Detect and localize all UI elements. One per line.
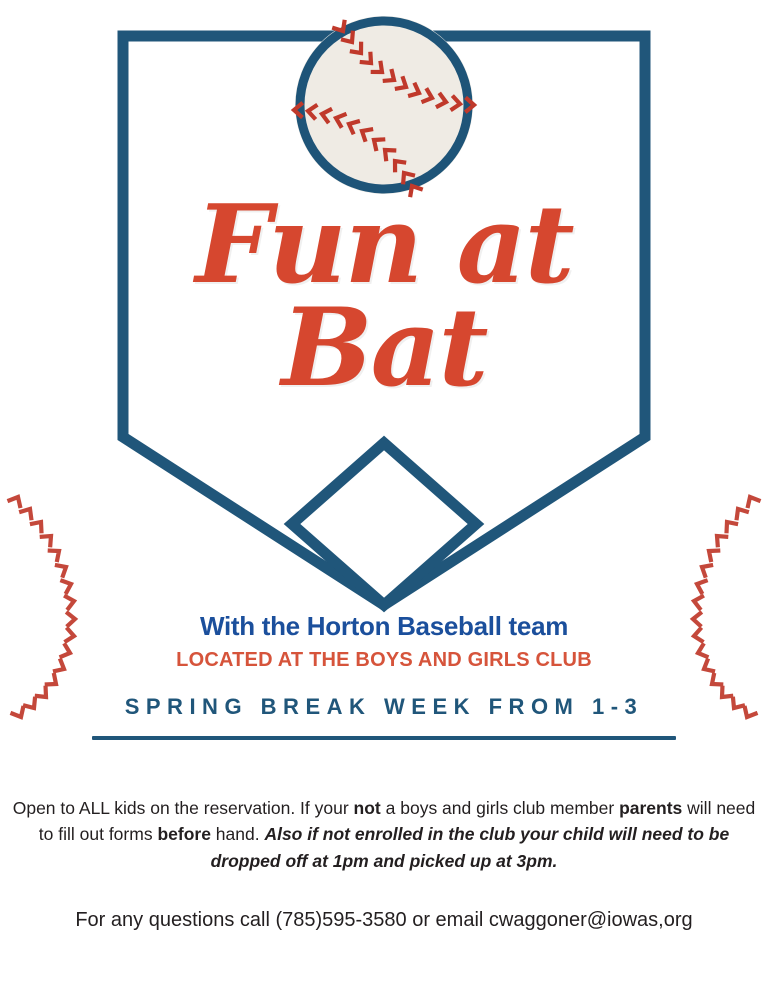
body-copy: Open to ALL kids on the reservation. If … [0, 795, 768, 934]
flyer-page: Fun at Bat With the Horton Baseball team… [0, 0, 768, 994]
details-bold-not: not [354, 798, 381, 818]
location-subheading: LOCATED AT THE BOYS AND GIRLS CLUB [0, 649, 768, 672]
divider-rule [92, 736, 676, 740]
details-bold-before: before [157, 824, 210, 844]
details-bolditalic-note: Also if not enrolled in the club your ch… [211, 824, 730, 870]
details-bold-parents: parents [619, 798, 682, 818]
subheading-group: With the Horton Baseball team LOCATED AT… [0, 612, 768, 740]
details-seg-2: a boys and girls club member [381, 798, 619, 818]
team-subheading: With the Horton Baseball team [0, 612, 768, 641]
details-paragraph: Open to ALL kids on the reservation. If … [0, 795, 768, 874]
baseball-icon [294, 16, 474, 195]
contact-line: For any questions call (785)595-3580 or … [0, 906, 768, 934]
infield-diamond-outline [292, 443, 476, 605]
details-seg-1: Open to ALL kids on the reservation. If … [13, 798, 354, 818]
dates-subheading: SPRING BREAK WEEK FROM 1-3 [0, 694, 768, 720]
details-seg-4: hand. [211, 824, 265, 844]
